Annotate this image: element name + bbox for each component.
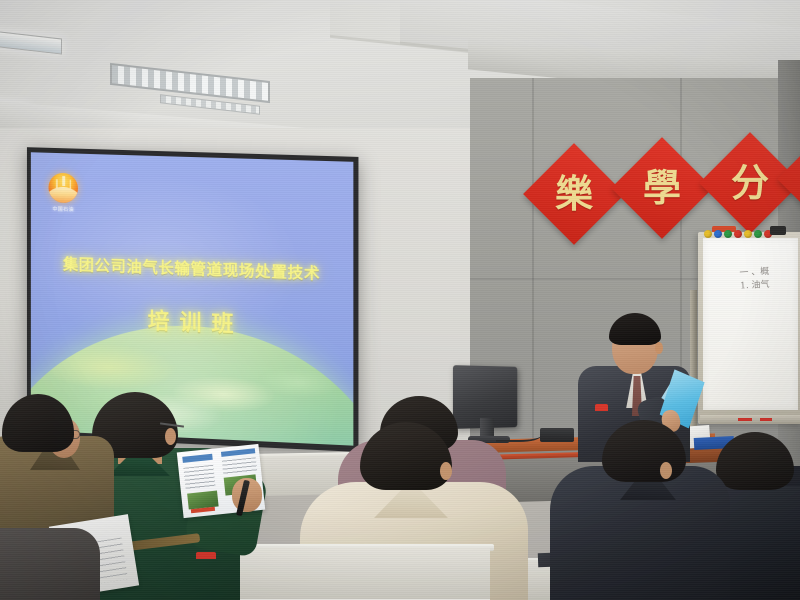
banner-glyph: 樂 xyxy=(555,175,593,213)
attendee-cream-jacket-ear xyxy=(440,462,452,480)
foreground-shoulder xyxy=(0,528,100,600)
whiteboard-magnets[interactable] xyxy=(704,230,772,238)
projected-slide: 中国石油 集团公司油气长输管道现场处置技术 培训班 xyxy=(31,152,354,445)
banner-glyph: 學 xyxy=(643,169,681,207)
whiteboard-marker xyxy=(760,418,772,421)
projection-screen: 中国石油 集团公司油气长输管道现场处置技术 培训班 xyxy=(27,147,359,452)
whiteboard-surface[interactable]: 一 、概 1. 油气 xyxy=(703,238,798,410)
whiteboard-marker-tray xyxy=(700,415,800,424)
desk-phone xyxy=(540,428,574,442)
petrochina-logo-caption: 中国石油 xyxy=(47,205,80,213)
presenter-ear xyxy=(655,342,663,354)
banner-glyph: 分 xyxy=(731,164,769,202)
petrochina-logo-mark xyxy=(48,173,77,204)
whiteboard-handwriting: 一 、概 1. 油气 xyxy=(739,265,797,302)
attendee-dark-suit-center-ear xyxy=(660,462,672,479)
whiteboard-marker xyxy=(738,418,752,421)
whiteboard-clip[interactable] xyxy=(770,226,786,235)
petrochina-logo: 中国石油 xyxy=(47,173,80,218)
monitor-cable xyxy=(496,428,542,442)
seminar-photo: 樂 學 分 享 一 、概 1. 油气 中国石油 xyxy=(0,0,800,600)
water-bottle xyxy=(196,552,216,600)
slide-title: 集团公司油气长输管道现场处置技术 xyxy=(31,251,354,285)
slide-subtitle: 培训班 xyxy=(31,299,354,344)
whiteboard[interactable]: 一 、概 1. 油气 xyxy=(698,232,800,424)
desk-mid xyxy=(228,548,490,600)
attendee-green-polo-ear xyxy=(165,428,176,445)
water-bottle xyxy=(595,404,608,446)
bottle-cap xyxy=(595,404,608,411)
bottle-cap xyxy=(196,552,216,559)
